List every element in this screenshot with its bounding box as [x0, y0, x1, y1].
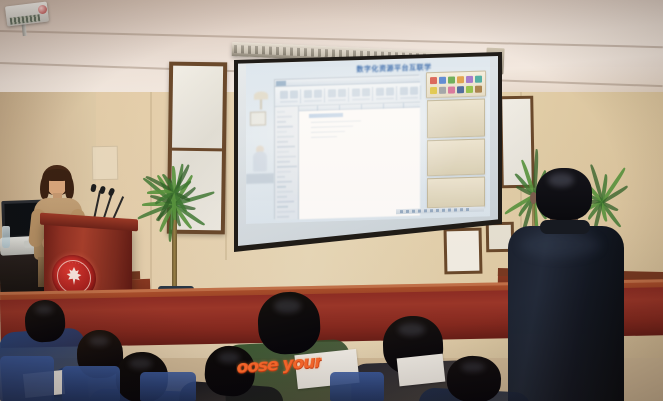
slide-panel	[427, 176, 485, 208]
app-sidebar-row	[277, 161, 290, 163]
icon-brown	[475, 86, 482, 93]
statusbar-pip	[406, 210, 409, 213]
icon-orange	[457, 76, 464, 83]
icon-blue	[439, 77, 446, 84]
app-sidebar-row	[277, 216, 289, 218]
app-sidebar-row	[277, 181, 292, 183]
app-ribbon-button	[362, 88, 370, 96]
app-sidebar-row	[277, 121, 286, 123]
app-column-separator	[317, 106, 318, 111]
held-paper	[397, 354, 446, 387]
app-sidebar-row	[277, 200, 294, 203]
figure-body	[253, 151, 267, 171]
app-column-separator	[403, 103, 404, 108]
app-ribbon-button	[314, 90, 322, 98]
app-ribbon-button	[376, 88, 384, 96]
app-ribbon-button	[352, 88, 360, 96]
slide-panel	[427, 98, 485, 138]
app-sidebar-row	[277, 165, 297, 168]
presenter-hair-side	[65, 175, 74, 199]
app-column-separator	[383, 104, 384, 109]
lecture-hall-photo: 数字化资源平台互联学	[0, 0, 663, 401]
app-sidebar-row	[277, 116, 292, 118]
app-sidebar-list	[275, 106, 299, 220]
presenter-hair-side	[40, 175, 49, 199]
statusbar-pip	[466, 208, 469, 211]
hair-highlight	[548, 173, 574, 187]
app-sidebar-row	[277, 126, 293, 129]
app-column-separator	[339, 105, 340, 110]
app-content-line	[311, 126, 353, 128]
icon-green	[448, 76, 455, 83]
picture-icon	[250, 111, 266, 126]
software-demo-window	[274, 75, 419, 220]
front-row-chair	[330, 372, 384, 401]
statusbar-pip	[454, 208, 457, 211]
app-ribbon-button	[400, 87, 408, 95]
statusbar-pip	[460, 208, 463, 211]
app-sidebar-row	[277, 206, 288, 208]
slide-decoration-illustration	[246, 89, 274, 214]
shoulder-highlight	[520, 232, 600, 258]
icon-teal	[475, 76, 482, 83]
app-content-line	[311, 131, 345, 133]
statusbar-pip	[424, 209, 427, 212]
app-selected-row	[309, 113, 343, 118]
front-row-chair	[140, 372, 196, 401]
desk-shape	[246, 173, 274, 184]
icon-purple	[466, 76, 473, 83]
app-sidebar-row	[277, 145, 295, 148]
app-content-line	[311, 120, 361, 123]
icon-navy	[457, 86, 464, 93]
statusbar-pip	[448, 209, 451, 212]
icon-red	[430, 77, 437, 84]
hair-highlight	[398, 323, 425, 336]
statusbar-pip	[430, 209, 433, 212]
app-ribbon-button	[304, 90, 312, 98]
projector-lens-icon	[38, 5, 47, 14]
ceiling-projector	[2, 0, 52, 38]
app-sidebar-row	[277, 196, 287, 198]
water-bottle	[2, 226, 10, 248]
app-sidebar-row	[277, 151, 289, 153]
app-sidebar-row	[277, 186, 286, 188]
statusbar-pip	[400, 210, 403, 213]
picture-mat	[447, 231, 480, 272]
app-sidebar-row	[277, 171, 291, 173]
app-ribbon-button	[338, 89, 346, 97]
front-row-chair	[0, 356, 54, 401]
app-content-line	[311, 136, 337, 138]
icon-lime	[466, 86, 473, 93]
lamp-pole	[260, 99, 262, 109]
projected-slide: 数字化资源平台互联学	[246, 56, 490, 224]
app-sidebar-row	[277, 131, 287, 133]
icon-pink	[448, 86, 455, 93]
app-sidebar-row	[277, 210, 295, 213]
app-sidebar-row	[277, 176, 285, 178]
app-ribbon-button	[290, 90, 298, 98]
app-ribbon-button	[386, 87, 394, 95]
app-sidebar-row	[277, 155, 296, 158]
slide-panel-stack	[426, 70, 486, 204]
app-sidebar-row	[277, 191, 293, 194]
app-logo-icon	[276, 81, 286, 86]
app-ribbon-button	[410, 87, 418, 95]
lamp-icon	[254, 91, 268, 99]
hair-highlight	[461, 362, 485, 372]
statusbar-pip	[442, 209, 445, 212]
icon-yellow	[430, 87, 437, 94]
statusbar-pip	[418, 210, 421, 213]
slide-icon-toolbox	[426, 70, 486, 98]
app-ribbon-button	[328, 89, 336, 97]
app-content-canvas	[299, 103, 420, 220]
app-ribbon-button	[280, 91, 288, 99]
app-column-separator	[361, 104, 362, 109]
app-sidebar-row	[277, 135, 294, 138]
slide-panel	[427, 138, 485, 176]
front-row-chair	[62, 366, 120, 401]
app-sidebar-row	[277, 141, 288, 143]
framed-picture	[444, 228, 483, 275]
standing-attendee-collar	[540, 220, 590, 234]
statusbar-pip	[436, 209, 439, 212]
icon-gray	[439, 87, 446, 94]
statusbar-pip	[412, 210, 415, 213]
app-sidebar-row	[277, 111, 285, 113]
